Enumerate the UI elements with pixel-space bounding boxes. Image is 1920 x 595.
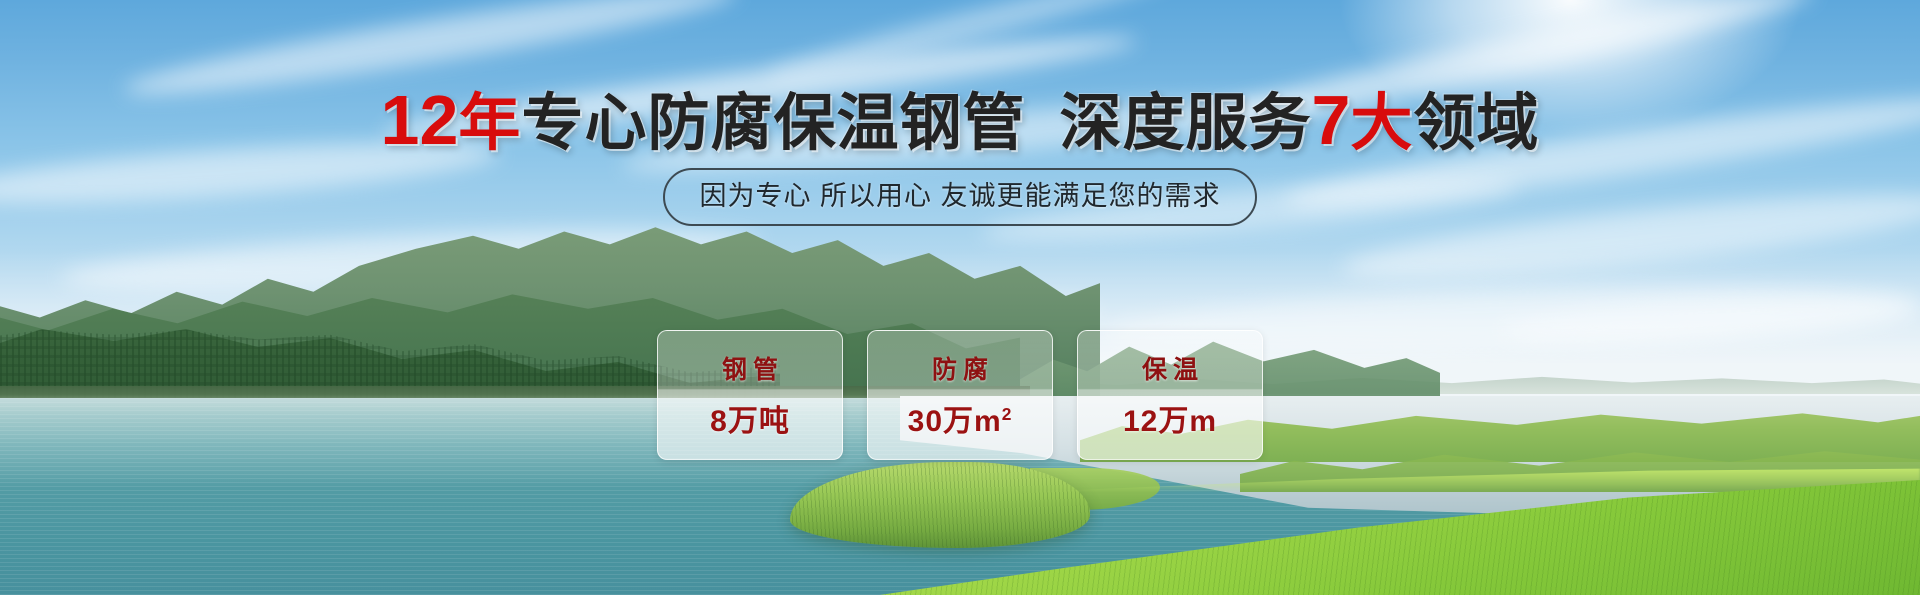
stat-card-value: 12万m — [1123, 396, 1217, 440]
stat-card-insulation[interactable]: 保温 12万m — [1077, 330, 1263, 460]
stat-card-anticorrosion[interactable]: 防腐 30万m2 — [867, 330, 1053, 460]
headline-fields-big: 大 — [1350, 89, 1413, 158]
stat-card-title: 保温 — [1136, 350, 1204, 386]
stat-card-value: 8万吨 — [710, 396, 790, 440]
headline: 12年专心防腐保温钢管深度服务7大领域 — [0, 88, 1920, 156]
headline-years-unit: 年 — [458, 89, 521, 158]
headline-years-number: 12 — [381, 81, 459, 159]
headline-fields-tail: 领域 — [1413, 89, 1539, 158]
headline-service-text: 深度服务 — [1059, 89, 1311, 158]
stat-card-steel-pipe[interactable]: 钢管 8万吨 — [657, 330, 843, 460]
hero-banner: 12年专心防腐保温钢管深度服务7大领域 因为专心 所以用心 友诚更能满足您的需求… — [0, 0, 1920, 595]
stat-card-value-superscript: 2 — [1002, 404, 1013, 424]
stat-card-title: 钢管 — [716, 350, 784, 386]
headline-main-text: 专心防腐保温钢管 — [521, 89, 1025, 158]
subtitle-pill: 因为专心 所以用心 友诚更能满足您的需求 — [663, 168, 1256, 226]
headline-fields-number: 7 — [1311, 81, 1350, 159]
stat-card-value-text: 30万m — [908, 405, 1002, 438]
stat-card-value-text: 12万m — [1123, 405, 1217, 438]
stat-cards: 钢管 8万吨 防腐 30万m2 保温 12万m — [0, 330, 1920, 460]
subtitle-container: 因为专心 所以用心 友诚更能满足您的需求 — [0, 168, 1920, 226]
stat-card-value: 30万m2 — [908, 396, 1013, 440]
stat-card-title: 防腐 — [926, 350, 994, 386]
stat-card-value-text: 8万吨 — [710, 405, 790, 438]
banner-content: 12年专心防腐保温钢管深度服务7大领域 因为专心 所以用心 友诚更能满足您的需求… — [0, 0, 1920, 595]
